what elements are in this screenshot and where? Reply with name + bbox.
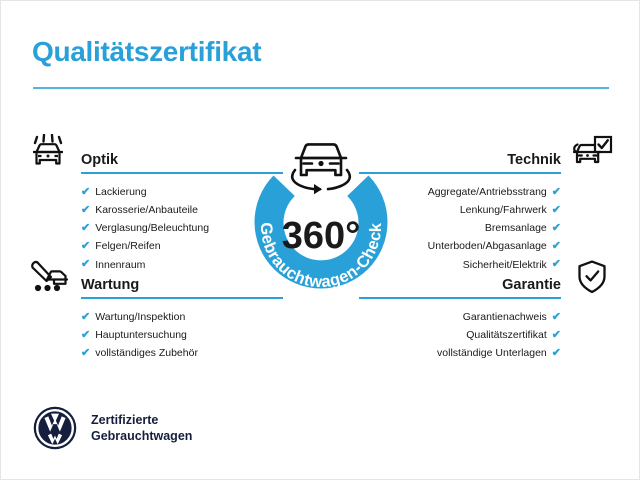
section-garantie-list: Garantienachweis✔ Qualitätszertifikat✔ v… (359, 308, 619, 363)
footer-text: Zertifizierte Gebrauchtwagen (91, 412, 192, 445)
vw-logo (32, 405, 78, 451)
check-icon: ✔ (81, 348, 90, 359)
list-item-label: Lenkung/Fahrwerk (460, 205, 547, 216)
page-title: Qualitätszertifikat (32, 36, 261, 68)
badge-360-gebrauchtwagen-check: 360° Gebrauchtwagen-Check (237, 123, 405, 313)
list-item-label: vollständiges Zubehör (95, 348, 198, 359)
section-technik-title: Technik (507, 152, 561, 168)
list-item-label: Aggregate/Antriebsstrang (428, 187, 547, 198)
check-icon: ✔ (552, 241, 561, 252)
car-shine-icon (23, 132, 77, 172)
list-item-label: Karosserie/Anbauteile (95, 205, 198, 216)
check-icon: ✔ (552, 205, 561, 216)
list-item-label: Qualitätszertifikat (466, 330, 547, 341)
wrench-car-icon (23, 257, 77, 297)
car-checkbox-icon (565, 132, 619, 172)
badge-center-label: 360° (282, 215, 361, 257)
check-icon: ✔ (81, 205, 90, 216)
list-item-label: Wartung/Inspektion (95, 312, 185, 323)
list-item-label: Felgen/Reifen (95, 241, 160, 252)
list-item: vollständige Unterlagen✔ (359, 344, 619, 362)
header-divider (33, 87, 609, 89)
check-icon: ✔ (81, 312, 90, 323)
list-item-label: Verglasung/Beleuchtung (95, 223, 209, 234)
check-icon: ✔ (552, 223, 561, 234)
shield-check-icon (565, 257, 619, 297)
check-icon: ✔ (81, 241, 90, 252)
list-item: ✔vollständiges Zubehör (23, 344, 283, 362)
list-item-label: Hauptuntersuchung (95, 330, 187, 341)
list-item: Qualitätszertifikat✔ (359, 326, 619, 344)
footer-line-2: Gebrauchtwagen (91, 429, 192, 443)
list-item-label: Garantienachweis (463, 312, 547, 323)
section-wartung-title: Wartung (81, 277, 139, 293)
list-item-label: Lackierung (95, 187, 146, 198)
footer-line-1: Zertifizierte (91, 413, 158, 427)
check-icon: ✔ (552, 312, 561, 323)
footer-vw-lockup: Zertifizierte Gebrauchtwagen (32, 405, 192, 451)
list-item-label: Unterboden/Abgasanlage (428, 241, 547, 252)
car-rotation-icon (292, 144, 350, 194)
section-garantie-title: Garantie (502, 277, 561, 293)
quality-certificate-page: Qualitätszertifikat (0, 0, 640, 480)
list-item-label: Bremsanlage (485, 223, 547, 234)
list-item: ✔Hauptuntersuchung (23, 326, 283, 344)
check-icon: ✔ (552, 330, 561, 341)
check-icon: ✔ (81, 187, 90, 198)
check-icon: ✔ (552, 348, 561, 359)
section-optik-title: Optik (81, 152, 118, 168)
check-icon: ✔ (81, 330, 90, 341)
check-icon: ✔ (552, 187, 561, 198)
list-item-label: vollständige Unterlagen (437, 348, 547, 359)
section-wartung-list: ✔Wartung/Inspektion ✔Hauptuntersuchung ✔… (23, 308, 283, 363)
check-icon: ✔ (81, 223, 90, 234)
